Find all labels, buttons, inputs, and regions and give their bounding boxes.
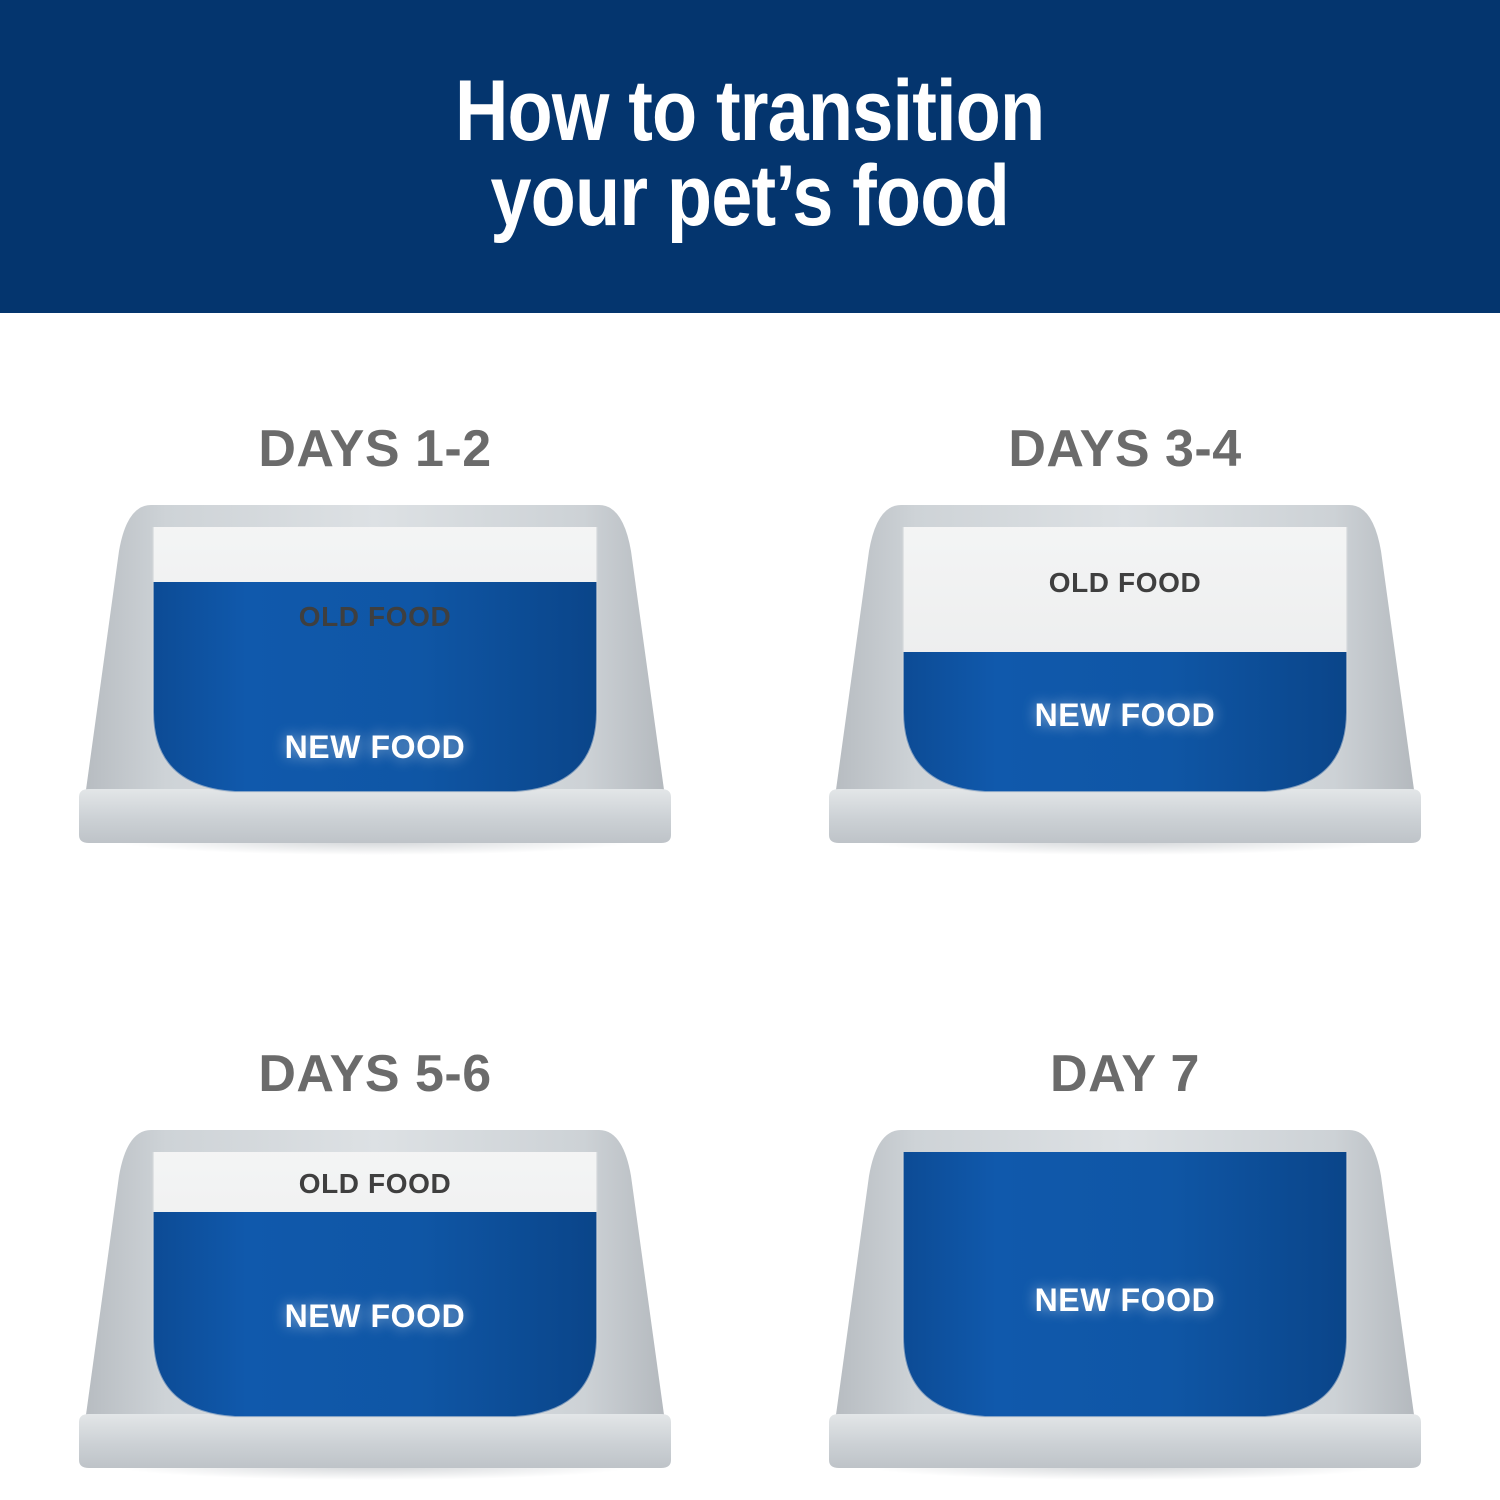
step-title: DAYS 1-2 xyxy=(258,313,491,475)
bowl-icon xyxy=(825,1122,1425,1482)
new-food-level xyxy=(895,652,1355,802)
new-food-level xyxy=(145,582,605,802)
step-title: DAYS 5-6 xyxy=(258,906,491,1100)
step-title: DAYS 3-4 xyxy=(1008,313,1241,475)
bowl-icon xyxy=(75,497,675,857)
pet-bowl-illustration: OLD FOOD NEW FOOD xyxy=(75,1122,675,1482)
pet-bowl-illustration: NEW FOOD xyxy=(825,1122,1425,1482)
pet-bowl-illustration: OLD FOOD NEW FOOD xyxy=(75,497,675,857)
step-title: DAY 7 xyxy=(1050,906,1200,1100)
bowl-icon xyxy=(75,1122,675,1482)
transition-steps-grid: DAYS 1-2 xyxy=(0,313,1500,1500)
step-card-days-5-6: DAYS 5-6 OLD FOOD NEW FOOD xyxy=(0,906,750,1500)
bowl-icon xyxy=(825,497,1425,857)
page-title: How to transition your pet’s food xyxy=(455,69,1044,244)
pet-bowl-illustration: OLD FOOD NEW FOOD xyxy=(825,497,1425,857)
header-banner: How to transition your pet’s food xyxy=(0,0,1500,313)
new-food-level xyxy=(895,1144,1355,1427)
step-card-day-7: DAY 7 NEW FOOD xyxy=(750,906,1500,1500)
step-card-days-1-2: DAYS 1-2 xyxy=(0,313,750,906)
step-card-days-3-4: DAYS 3-4 OLD FOOD NEW FOOD xyxy=(750,313,1500,906)
new-food-level xyxy=(145,1212,605,1427)
